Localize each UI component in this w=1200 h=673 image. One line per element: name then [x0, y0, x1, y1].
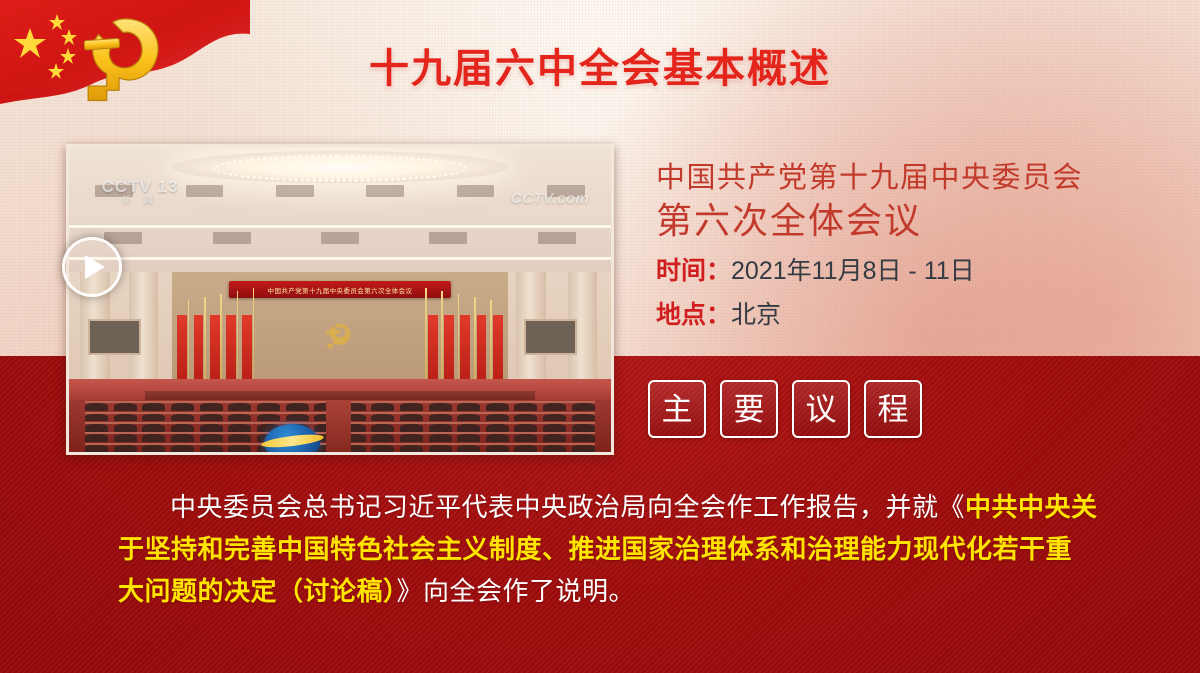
play-button[interactable]	[62, 237, 122, 297]
meeting-place-value: 北京	[731, 301, 781, 329]
page-title: 十九届六中全会基本概述	[0, 36, 1200, 94]
agenda-char-box[interactable]: 程	[864, 380, 922, 438]
agenda-char-box[interactable]: 议	[792, 380, 850, 438]
audience-aisle	[326, 400, 350, 452]
meeting-name-line2: 第六次全体会议	[656, 198, 1176, 245]
summary-paragraph: 中央委员会总书记习近平代表中央政治局向全会作工作报告，并就《中共中央关于坚持和完…	[118, 486, 1098, 612]
meeting-time-value: 2021年11月8日 - 11日	[731, 257, 975, 285]
play-triangle-icon	[85, 255, 105, 279]
summary-part1: 中央委员会总书记习近平代表中央政治局向全会作工作报告，并就《	[170, 492, 965, 522]
meeting-place-label: 地点：	[656, 301, 731, 329]
meeting-photo[interactable]: 中国共产党第十九届中央委员会第六次全体会议	[66, 144, 614, 455]
summary-part2: 》向全会作了说明。	[397, 576, 636, 606]
agenda-char-box[interactable]: 主	[648, 380, 706, 438]
meeting-info: 中国共产党第十九届中央委员会 第六次全体会议 时间：2021年11月8日 - 1…	[656, 160, 1176, 334]
meeting-place-row: 地点：北京	[656, 297, 1176, 333]
stage-banner-text: 中国共产党第十九届中央委员会第六次全体会议	[229, 281, 451, 298]
agenda-heading: 主 要 议 程	[648, 380, 922, 438]
meeting-time-row: 时间：2021年11月8日 - 11日	[656, 253, 1176, 289]
cctv-watermark-sub: 新 闻	[102, 196, 179, 206]
meeting-name-line1: 中国共产党第十九届中央委员会	[656, 160, 1176, 196]
slide-canvas: 十九届六中全会基本概述 中国共产党第十九届中央委员会第	[0, 0, 1200, 673]
cctv-watermark-channel: CCTV 13	[102, 177, 179, 196]
hall-ceiling	[69, 147, 611, 272]
meeting-time-label: 时间：	[656, 257, 731, 285]
agenda-char-box[interactable]: 要	[720, 380, 778, 438]
cctv-site-watermark: CCTV.com	[511, 190, 589, 207]
cctv-watermark: CCTV 13 新 闻	[102, 178, 179, 207]
